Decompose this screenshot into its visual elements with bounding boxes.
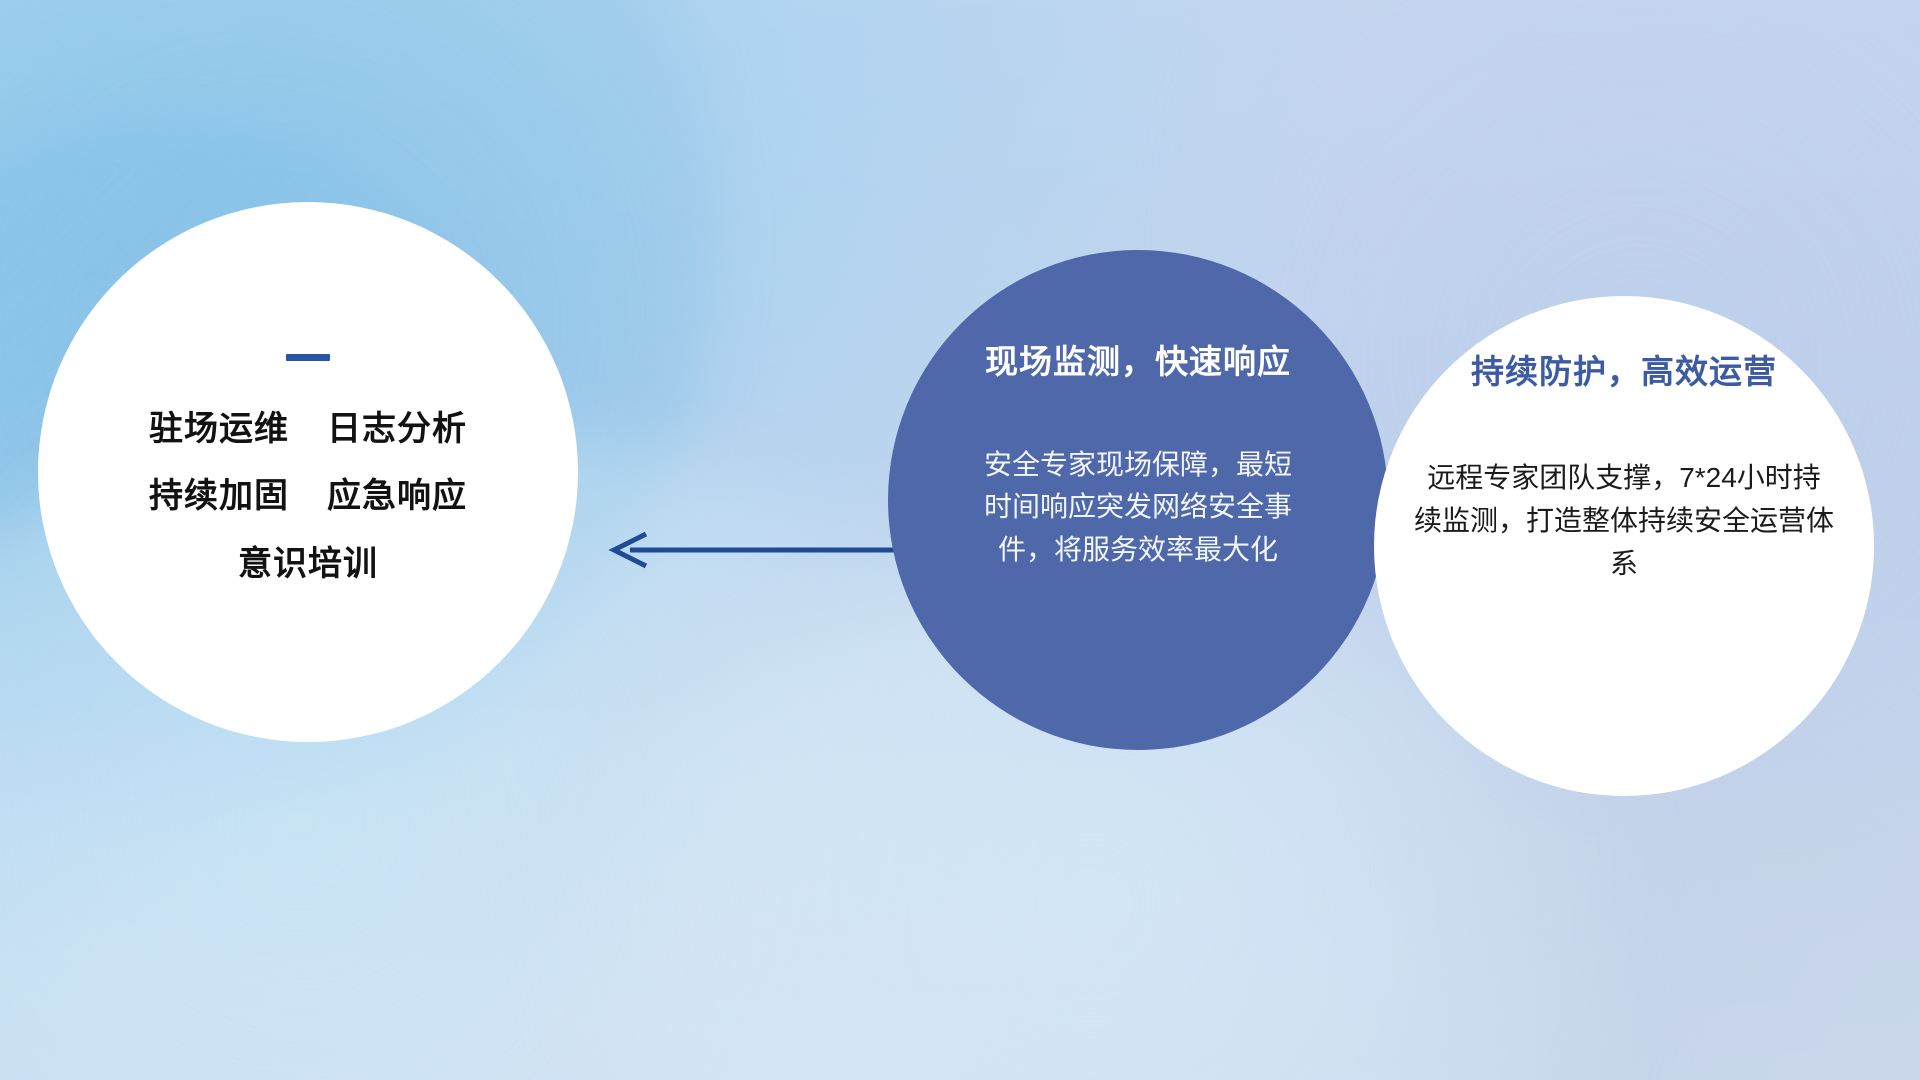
diagram-stage: 驻场运维 日志分析 持续加固 应急响应 意识培训 现场监测，快速响应 安全专家现…	[0, 0, 1920, 1080]
capability-tag: 持续加固	[149, 478, 289, 515]
capability-tag-row: 持续加固 应急响应	[149, 478, 467, 515]
onsite-monitoring-title: 现场监测，快速响应	[985, 342, 1291, 382]
continuous-operations-description: 远程专家团队支撑，7*24小时持续监测，打造整体持续安全运营体系	[1414, 456, 1834, 585]
capability-tag: 意识培训	[238, 546, 378, 583]
capability-tag: 驻场运维	[149, 411, 289, 448]
arrow-left-icon	[614, 534, 908, 566]
capability-tag: 日志分析	[327, 411, 467, 448]
capability-tag: 应急响应	[327, 478, 467, 515]
continuous-operations-title: 持续防护，高效运营	[1471, 352, 1777, 392]
connector-arrow	[600, 515, 910, 585]
continuous-operations-circle[interactable]: 持续防护，高效运营 远程专家团队支撑，7*24小时持续监测，打造整体持续安全运营…	[1374, 296, 1874, 796]
capability-tag-list: 驻场运维 日志分析 持续加固 应急响应 意识培训	[38, 354, 578, 583]
onsite-monitoring-circle[interactable]: 现场监测，快速响应 安全专家现场保障，最短时间响应突发网络安全事件，将服务效率最…	[888, 250, 1388, 750]
capability-tag-row: 意识培训	[238, 546, 378, 583]
accent-dash-divider	[286, 354, 330, 361]
onsite-monitoring-content: 现场监测，快速响应 安全专家现场保障，最短时间响应突发网络安全事件，将服务效率最…	[888, 250, 1388, 750]
capability-tag-row: 驻场运维 日志分析	[149, 411, 467, 448]
capability-circle-left[interactable]: 驻场运维 日志分析 持续加固 应急响应 意识培训	[38, 202, 578, 742]
continuous-operations-content: 持续防护，高效运营 远程专家团队支撑，7*24小时持续监测，打造整体持续安全运营…	[1374, 296, 1874, 796]
onsite-monitoring-description: 安全专家现场保障，最短时间响应突发网络安全事件，将服务效率最大化	[973, 444, 1303, 572]
